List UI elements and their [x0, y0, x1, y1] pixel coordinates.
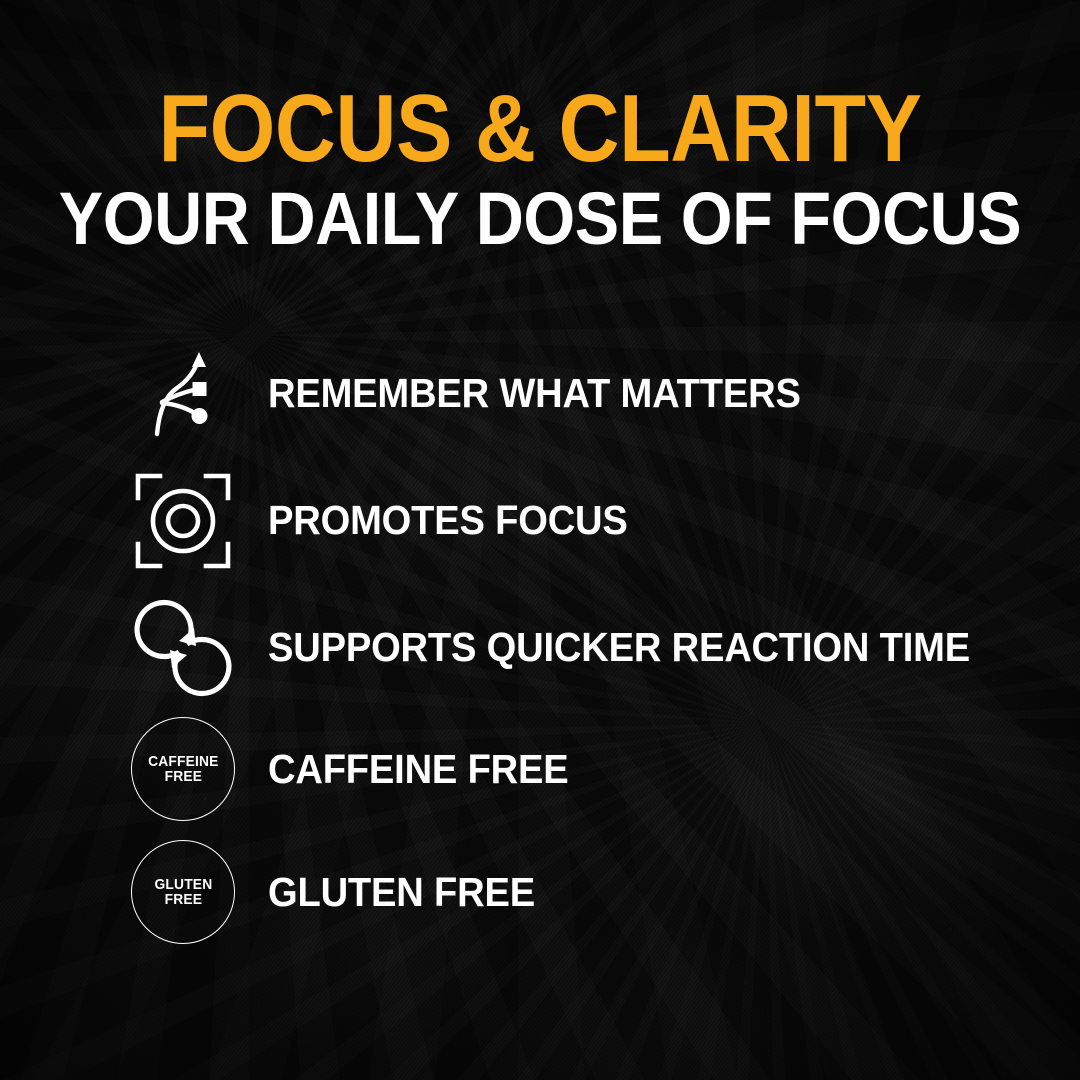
caffeine-free-badge-circle: CAFFEINE FREE [131, 717, 235, 821]
feature-row: REMEMBER WHAT MATTERS [0, 330, 1080, 457]
gluten-badge-line1: GLUTEN [154, 877, 212, 892]
reaction-cycle-icon [124, 594, 242, 702]
feature-list: REMEMBER WHAT MATTERS PROMOTES FOCUS [0, 330, 1080, 957]
feature-label: CAFFEINE FREE [268, 749, 569, 790]
feature-label: GLUTEN FREE [268, 872, 535, 913]
feature-label: PROMOTES FOCUS [268, 500, 628, 541]
caffeine-free-badge: CAFFEINE FREE [124, 715, 242, 823]
page-title: FOCUS & CLARITY [65, 88, 1015, 171]
caffeine-badge-line1: CAFFEINE [148, 754, 218, 769]
focus-target-icon [124, 467, 242, 575]
feature-label: REMEMBER WHAT MATTERS [268, 373, 801, 414]
product-benefits-graphic: FOCUS & CLARITY YOUR DAILY DOSE OF FOCUS… [0, 0, 1080, 1080]
memory-branch-icon [124, 340, 242, 448]
feature-row: PROMOTES FOCUS [0, 457, 1080, 584]
feature-row: SUPPORTS QUICKER REACTION TIME [0, 584, 1080, 711]
gluten-badge-line2: FREE [164, 892, 202, 907]
feature-row: GLUTEN FREE GLUTEN FREE [0, 827, 1080, 957]
gluten-free-badge: GLUTEN FREE [124, 838, 242, 946]
feature-row: CAFFEINE FREE CAFFEINE FREE [0, 711, 1080, 827]
gluten-free-badge-circle: GLUTEN FREE [131, 840, 235, 944]
header-block: FOCUS & CLARITY YOUR DAILY DOSE OF FOCUS [0, 88, 1080, 250]
feature-label: SUPPORTS QUICKER REACTION TIME [268, 627, 970, 668]
page-subtitle: YOUR DAILY DOSE OF FOCUS [54, 187, 1026, 251]
caffeine-badge-line2: FREE [164, 769, 202, 784]
